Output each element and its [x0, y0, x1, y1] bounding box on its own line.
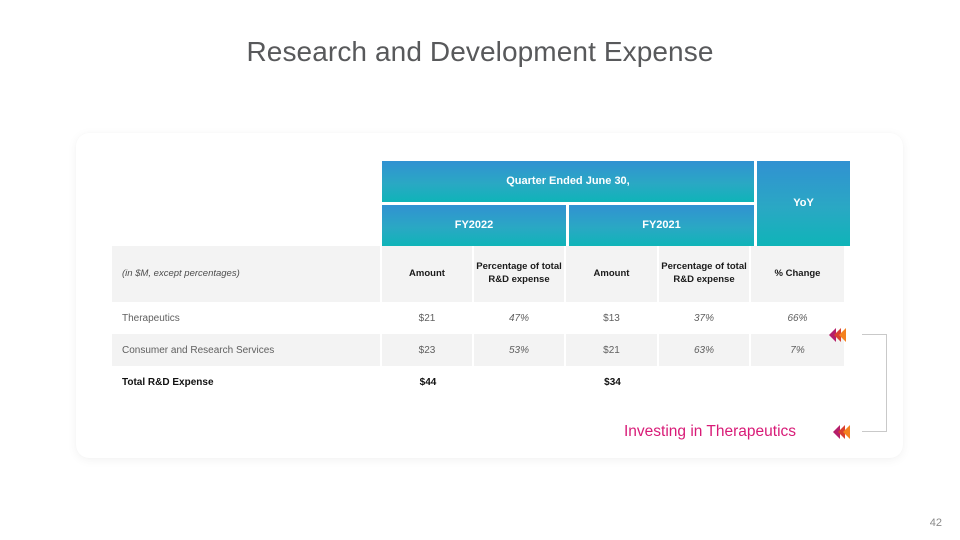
table-total-row: Total R&D Expense $44 $34: [112, 366, 850, 398]
cell-therapeutics-fy2022-percentage: 47%: [474, 302, 566, 334]
cell-therapeutics-fy2021-amount: $13: [566, 302, 659, 334]
chevron-left-icon: [839, 328, 846, 342]
column-header-units-note: (in $M, except percentages): [112, 246, 382, 302]
group-header-fy2022: FY2022: [382, 205, 566, 246]
table-row: Therapeutics $21 47% $13 37% 66%: [112, 302, 850, 334]
column-header-fy2021-percentage: Percentage of total R&D expense: [659, 246, 751, 302]
table-group-header-row: Quarter Ended June 30, FY2022 FY2021 YoY: [112, 161, 850, 246]
row-label-consumer-and-research-services: Consumer and Research Services: [112, 334, 382, 366]
cell-consumer-fy2021-percentage: 63%: [659, 334, 751, 366]
page-number: 42: [930, 517, 942, 529]
table-row: Consumer and Research Services $23 53% $…: [112, 334, 850, 366]
cell-total-fy2022-amount: $44: [382, 366, 474, 398]
column-header-fy2021-amount: Amount: [566, 246, 659, 302]
chevron-left-icon: [843, 425, 850, 439]
content-card: Quarter Ended June 30, FY2022 FY2021 YoY…: [76, 133, 903, 458]
cell-total-fy2021-percentage: [659, 366, 751, 398]
slide-root: Research and Development Expense Quarter…: [0, 0, 960, 540]
cell-therapeutics-fy2021-percentage: 37%: [659, 302, 751, 334]
cell-consumer-fy2022-amount: $23: [382, 334, 474, 366]
cell-consumer-fy2022-percentage: 53%: [474, 334, 566, 366]
row-label-total-rd-expense: Total R&D Expense: [112, 366, 382, 398]
callout-text: Investing in Therapeutics: [624, 423, 796, 441]
triple-chevron-left-icon: [829, 328, 844, 342]
group-header-quarter: Quarter Ended June 30,: [382, 161, 754, 202]
page-title: Research and Development Expense: [0, 36, 960, 68]
group-header-yoy: YoY: [757, 161, 850, 246]
triple-chevron-left-icon: [833, 425, 848, 439]
group-header-fy2021: FY2021: [569, 205, 754, 246]
cell-total-percent-change: [751, 366, 844, 398]
table-column-header-row: (in $M, except percentages) Amount Perce…: [112, 246, 850, 302]
cell-total-fy2021-amount: $34: [566, 366, 659, 398]
cell-therapeutics-fy2022-amount: $21: [382, 302, 474, 334]
cell-total-fy2022-percentage: [474, 366, 566, 398]
column-header-fy2022-percentage: Percentage of total R&D expense: [474, 246, 566, 302]
cell-consumer-fy2021-amount: $21: [566, 334, 659, 366]
column-header-percent-change: % Change: [751, 246, 844, 302]
callout-connector-line: [862, 334, 887, 432]
rd-expense-table: Quarter Ended June 30, FY2022 FY2021 YoY…: [112, 161, 850, 443]
column-header-fy2022-amount: Amount: [382, 246, 474, 302]
row-label-therapeutics: Therapeutics: [112, 302, 382, 334]
